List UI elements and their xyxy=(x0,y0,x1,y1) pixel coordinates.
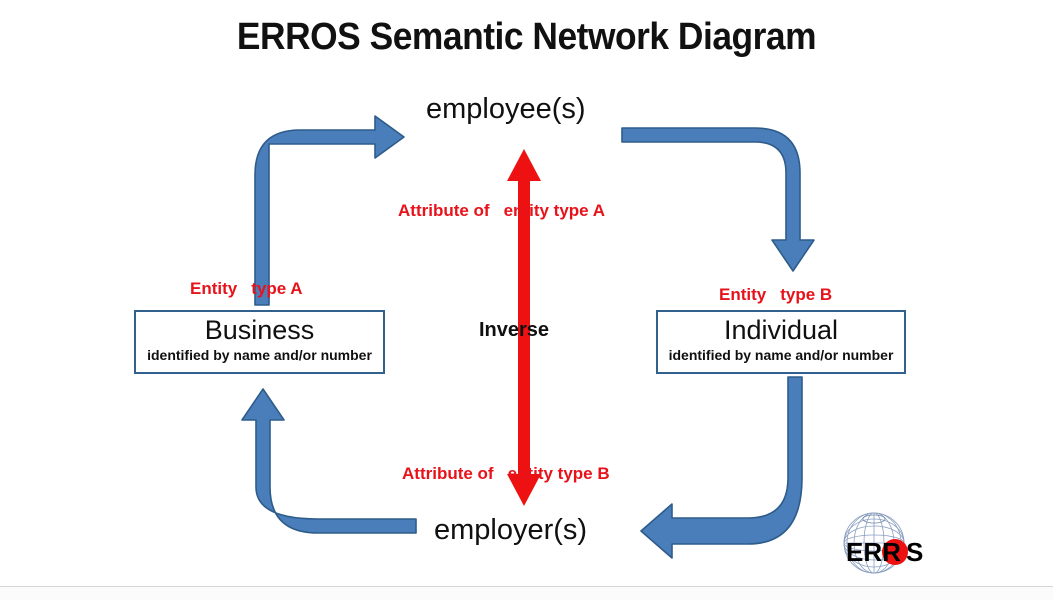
label-attribute-of-entity-type-a: Attribute ofentity type A xyxy=(398,201,605,221)
entity-identifier: identified by name and/or number xyxy=(136,346,383,364)
label-entity-type-a-right: type A xyxy=(251,279,302,298)
bottom-band xyxy=(0,587,1053,600)
arrow-employees-to-individual xyxy=(622,128,814,271)
erros-logo: ERR S xyxy=(830,505,938,581)
label-inverse: Inverse xyxy=(479,319,549,342)
label-attr-a-right: entity type A xyxy=(504,201,605,220)
entity-name: Business xyxy=(136,314,383,346)
relation-node-employers: employer(s) xyxy=(434,514,587,547)
label-attr-b-left: Attribute of xyxy=(402,464,494,483)
arrow-business-to-employees xyxy=(255,116,404,305)
label-attribute-of-entity-type-b: Attribute ofentity type B xyxy=(402,464,610,484)
relation-node-employees: employee(s) xyxy=(426,93,586,126)
bottom-divider xyxy=(0,586,1053,587)
arrow-individual-to-employers xyxy=(641,377,802,558)
entity-box-individual[interactable]: Individual identified by name and/or num… xyxy=(656,310,906,374)
label-entity-type-b-right: type B xyxy=(780,285,832,304)
diagram-canvas: ERROS Semantic Network Diagram Business … xyxy=(0,0,1053,600)
logo-text-before-dot: ERR xyxy=(846,537,901,567)
label-attr-b-right: entity type B xyxy=(508,464,610,483)
label-entity-type-a-left: Entity xyxy=(190,279,237,298)
label-entity-type-b: Entitytype B xyxy=(719,285,832,305)
label-entity-type-a: Entitytype A xyxy=(190,279,303,299)
entity-box-business[interactable]: Business identified by name and/or numbe… xyxy=(134,310,385,374)
entity-identifier: identified by name and/or number xyxy=(658,346,904,364)
label-entity-type-b-left: Entity xyxy=(719,285,766,304)
arrow-employers-to-business xyxy=(242,389,416,533)
entity-name: Individual xyxy=(658,314,904,346)
logo-text-after-dot: S xyxy=(906,537,923,567)
label-attr-a-left: Attribute of xyxy=(398,201,490,220)
